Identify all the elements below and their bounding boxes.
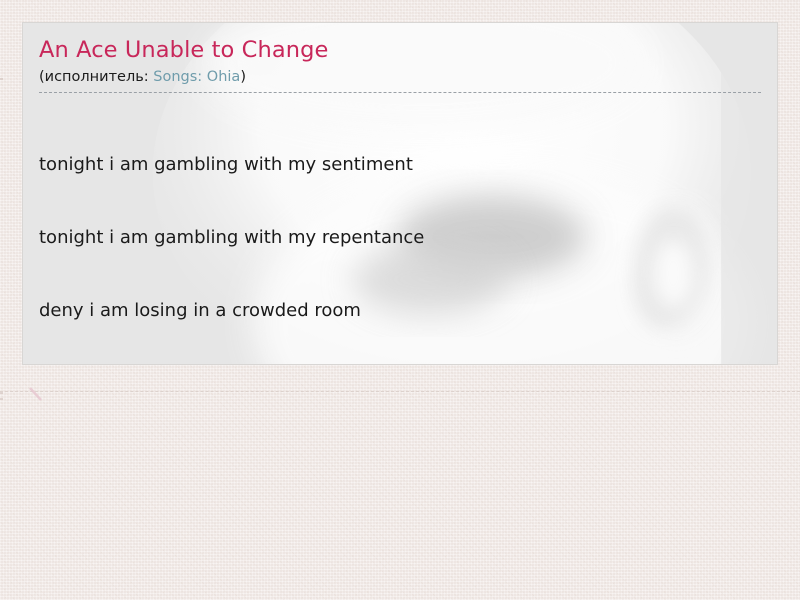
artist-suffix-label: ) [240,69,246,85]
section-divider [0,391,800,392]
lyric-line: tonight i am gambling with my sentiment [39,153,761,177]
lyrics-card: An Ace Unable to Change (исполнитель: So… [22,22,778,365]
artist-prefix-label: (исполнитель: [39,69,153,85]
song-title: An Ace Unable to Change [39,37,761,64]
artist-link[interactable]: Songs: Ohia [153,69,240,85]
lyric-line: deny i am losing in a crowded room [39,299,761,323]
lyrics-card-content: An Ace Unable to Change (исполнитель: So… [23,23,777,365]
page-edge-mark [0,78,3,80]
lyrics-text: tonight i am gambling with my sentiment … [39,93,761,365]
artist-line: (исполнитель: Songs: Ohia) [39,68,761,94]
lyric-line: tonight i am gambling with my repentance [39,226,761,250]
page-edge-mark [0,392,3,394]
page-edge-mark [0,398,3,400]
